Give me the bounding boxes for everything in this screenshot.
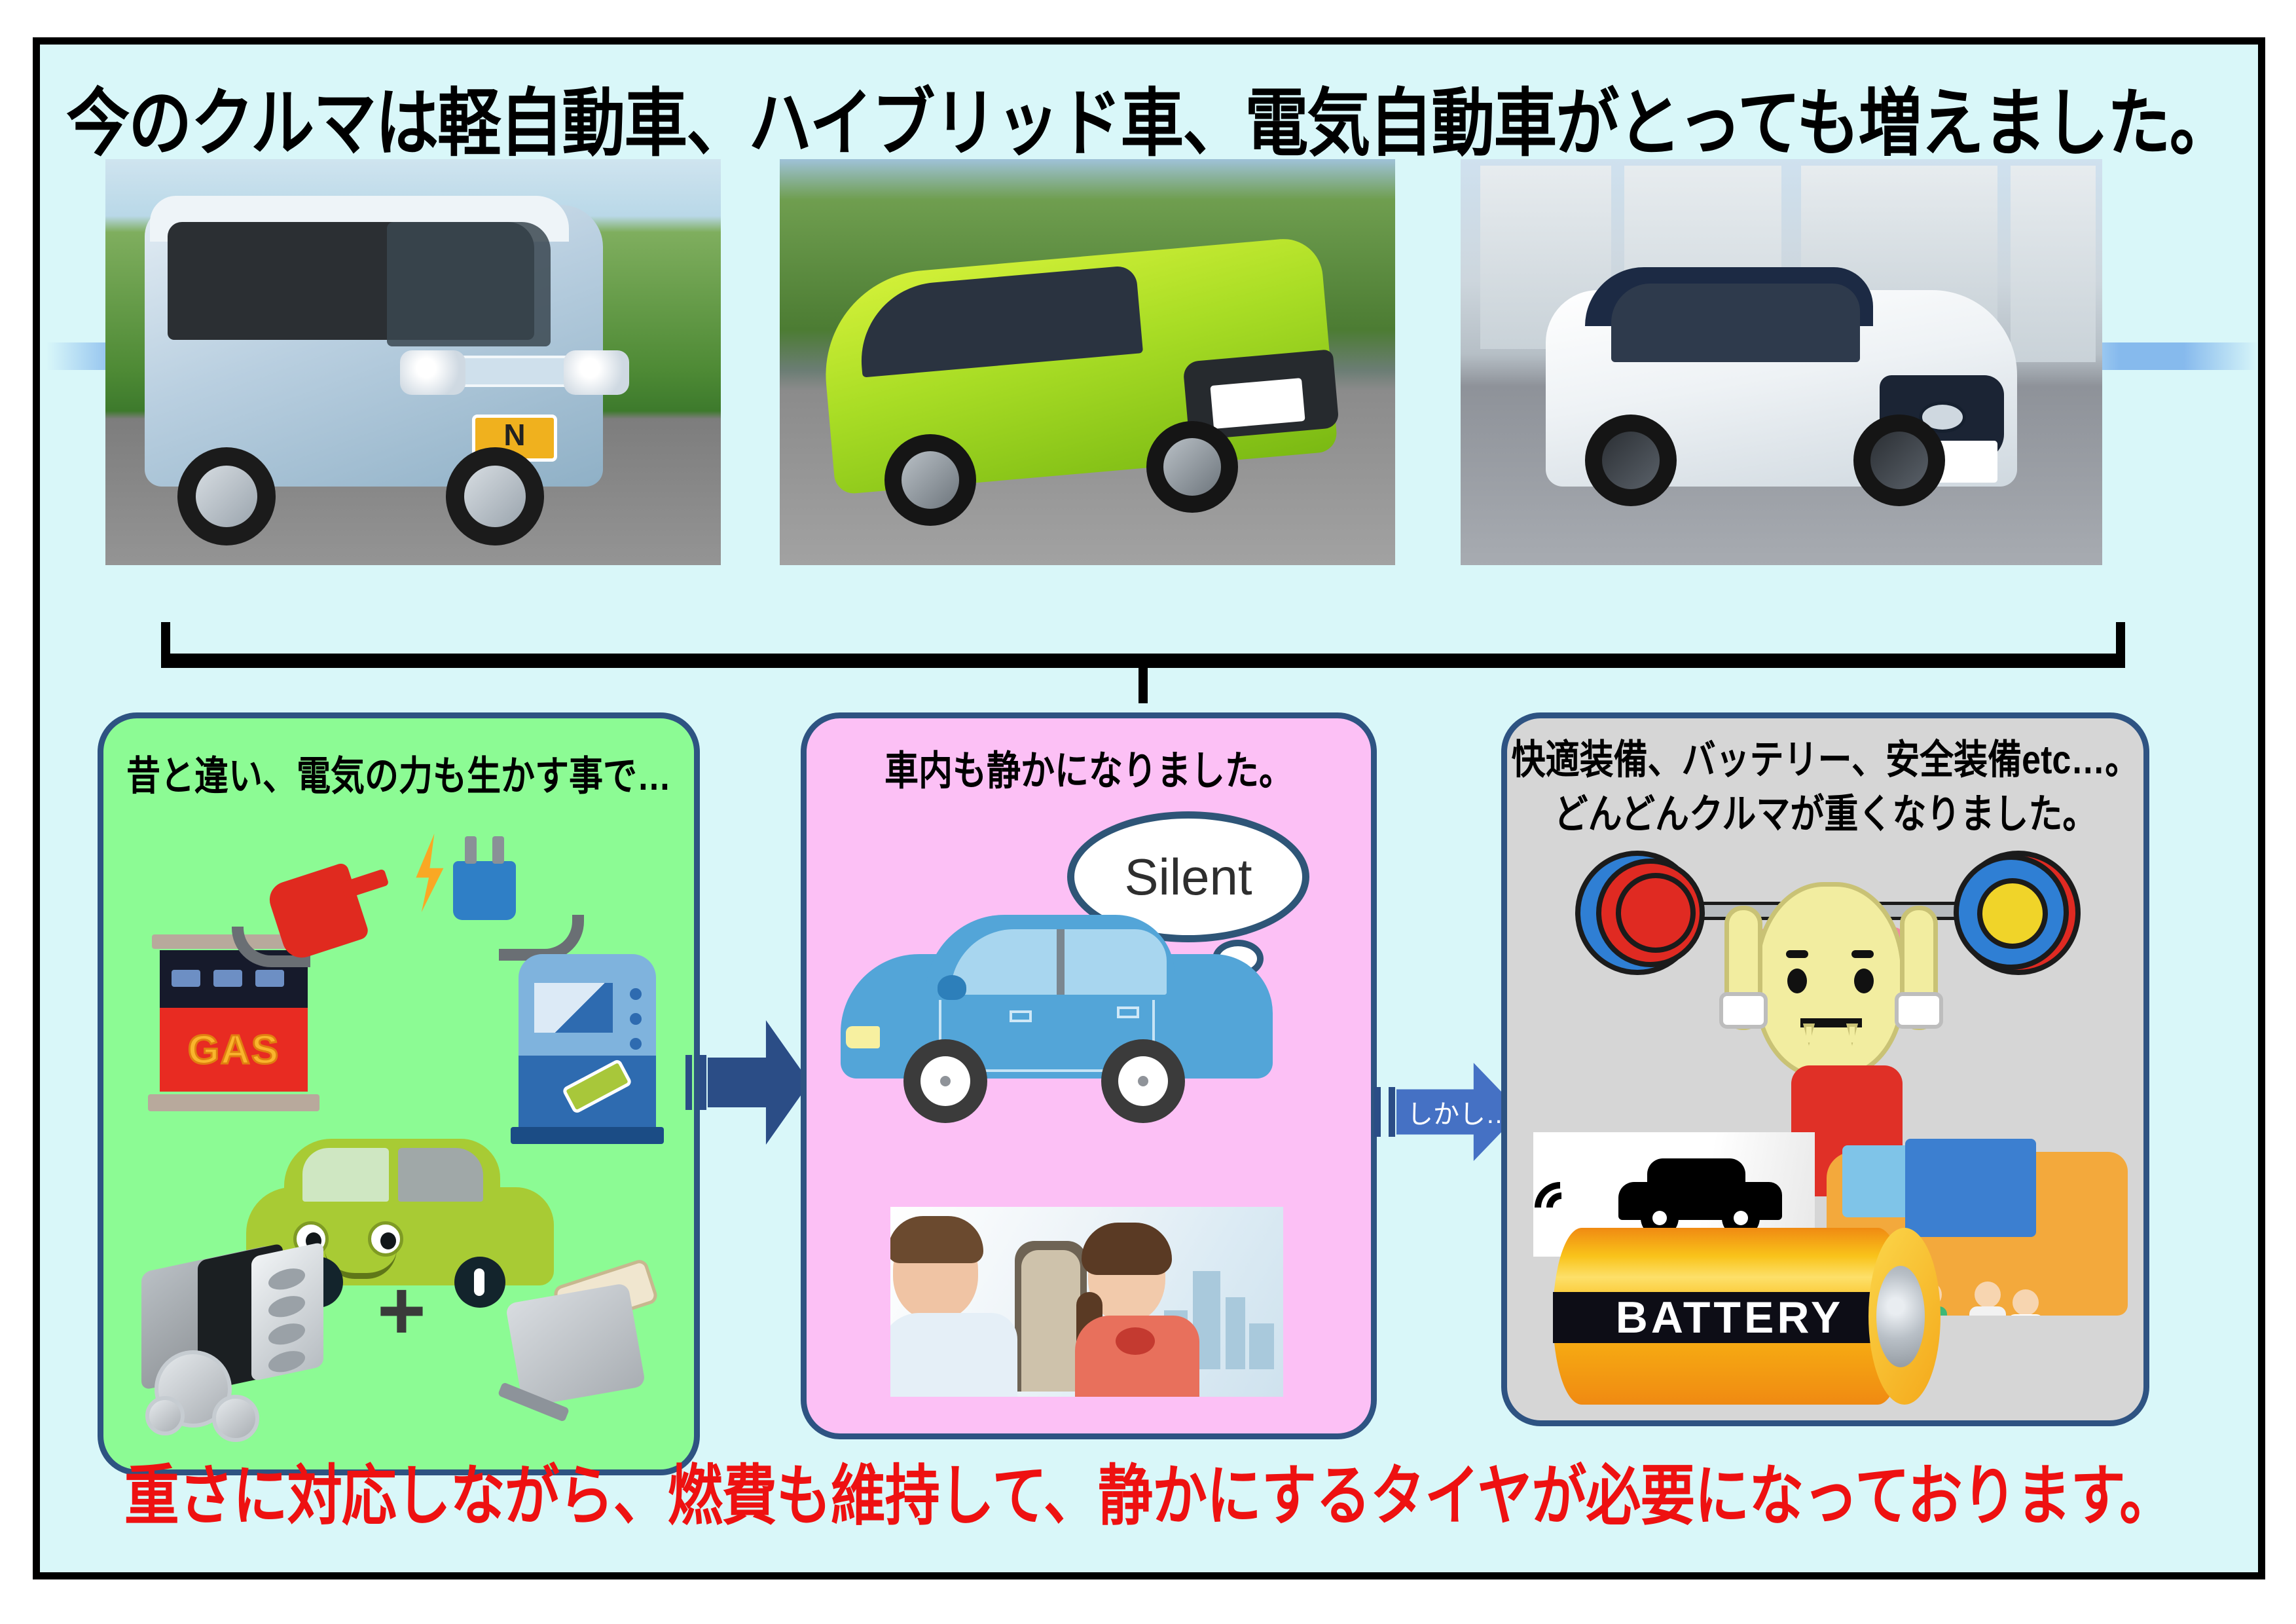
plus-sign: + [377, 1269, 426, 1353]
lightning-bolt-icon [406, 834, 452, 912]
electric-motor-icon [500, 1266, 664, 1424]
blue-car-illustration [841, 915, 1273, 1131]
panel-gray-heading-line1: 快適装備、バッテリー、安全装備etc…。 [1507, 734, 2143, 788]
hero-photo-electric-car [1461, 159, 2102, 565]
photo-couple-in-car [890, 1207, 1283, 1397]
panel-green-heading: 昔と違い、電気の力も生かす事で… [103, 743, 694, 802]
battery-icon: BATTERY [1553, 1228, 1959, 1405]
slide-frame: 今のクルマは軽自動車、ハイブリッド車、電気自動車がとっても増えました。 N [33, 37, 2265, 1579]
hero-photo-kei-car: N [105, 159, 721, 565]
hero-photo-hybrid-car [780, 159, 1395, 565]
panel-quiet-cabin: 車内も静かになりました。 Silent [801, 712, 1377, 1439]
arrow2-tick-inner [1389, 1087, 1395, 1137]
arrow-green-to-pink [708, 1020, 810, 1145]
panel-gray-heading-line2: どんどんクルマが重くなりました。 [1507, 788, 2143, 841]
arrow2-tick-outer [1374, 1087, 1381, 1137]
battery-label: BATTERY [1616, 1292, 1844, 1343]
gas-label: GAS [188, 1027, 280, 1073]
arrow1-tick-outer [685, 1055, 692, 1110]
conclusion-text: 重さに対応しながら、燃費も維持して、静かにするタイヤが必要になっております。 [40, 1443, 2258, 1538]
silent-label: Silent [1124, 847, 1252, 907]
panel-heavier-cars: 快適装備、バッテリー、安全装備etc…。 どんどんクルマが重くなりました。 [1501, 712, 2149, 1426]
panel-gray-heading: 快適装備、バッテリー、安全装備etc…。 どんどんクルマが重くなりました。 [1507, 734, 2143, 841]
engine-icon [135, 1239, 351, 1435]
power-plug-icon [453, 861, 516, 920]
panel-electric-power: 昔と違い、電気の力も生かす事で… GAS [98, 712, 700, 1475]
arrow1-tick-inner [700, 1055, 706, 1110]
panel-pink-heading: 車内も静かになりました。 [807, 738, 1371, 796]
arrow2-label: しかし… [1407, 1093, 1512, 1131]
ev-charger-icon [519, 954, 656, 1144]
page-title: 今のクルマは軽自動車、ハイブリッド車、電気自動車がとっても増えました。 [40, 63, 2258, 170]
grouping-bracket [161, 622, 2125, 701]
